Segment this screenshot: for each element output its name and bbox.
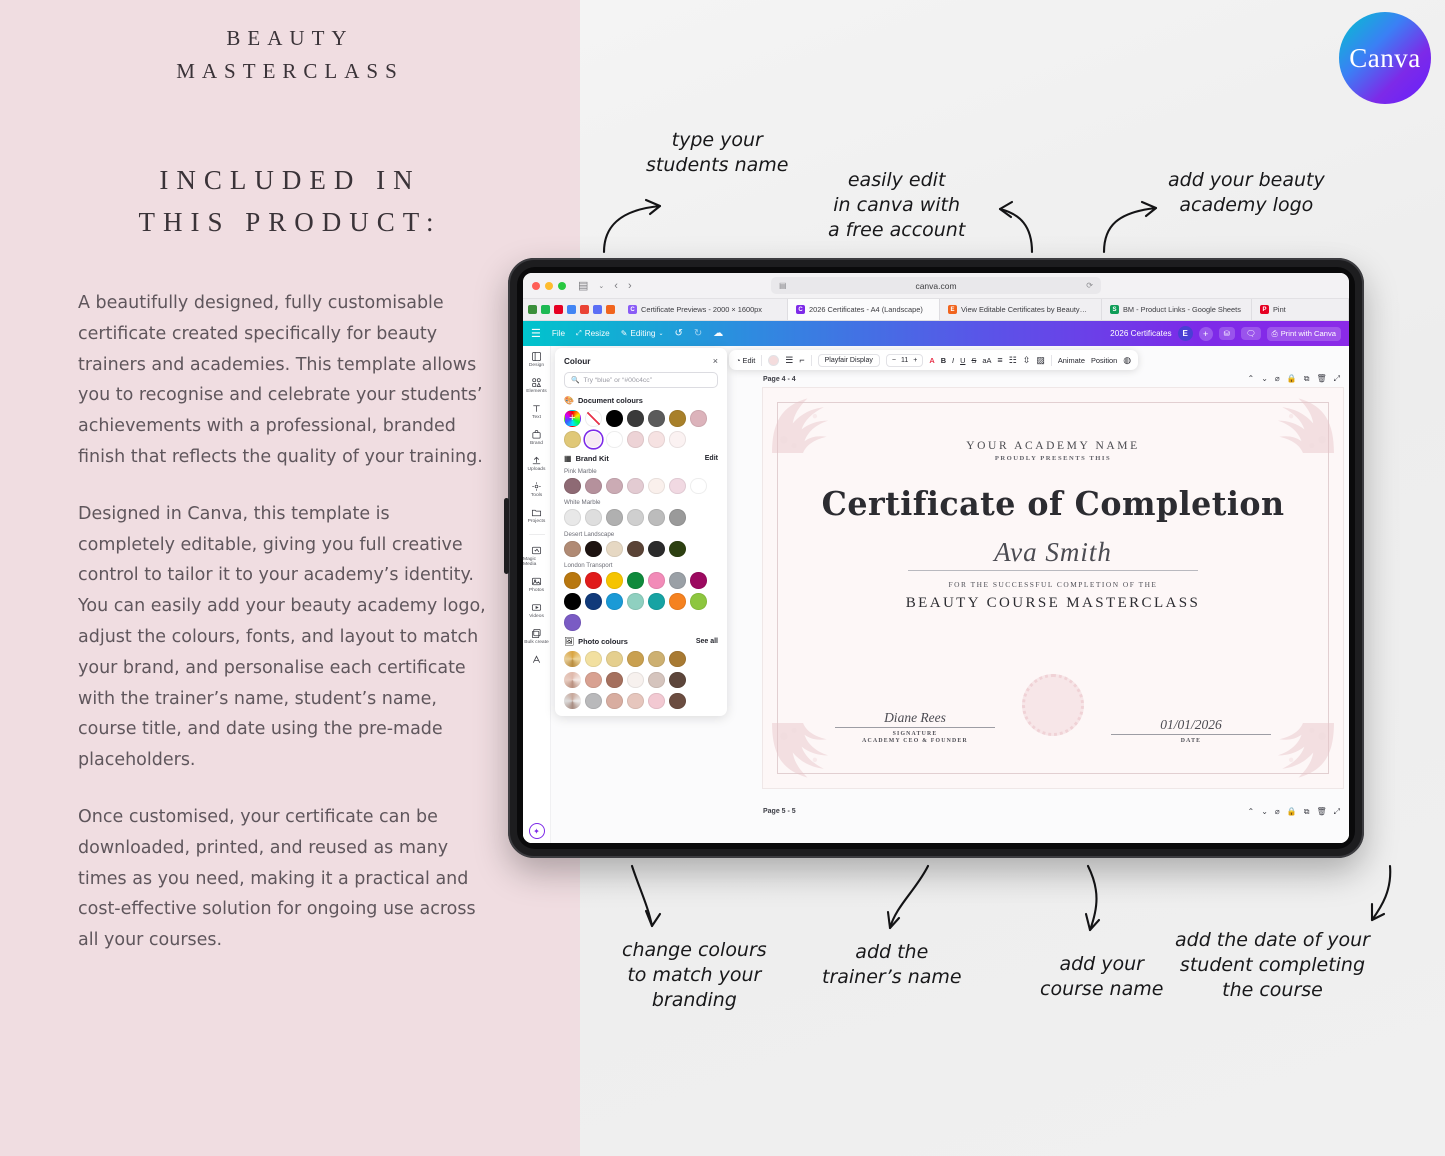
move-up-icon[interactable]: ⌃ — [1248, 807, 1255, 817]
tablet-screen: ▤ ⌄ ‹ › ▤ canva.com ⟳ — [523, 273, 1349, 843]
brand-kit-label: Brand Kit — [576, 454, 609, 463]
resize-label: Resize — [585, 329, 610, 338]
colour-swatch[interactable] — [627, 572, 644, 589]
paragraph-1: A beautifully designed, fully customisab… — [78, 288, 486, 473]
browser-tab[interactable]: E View Editable Certificates by BeautyMa… — [940, 299, 1102, 320]
left-info-panel: BEAUTY MASTERCLASS INCLUDED IN THIS PROD… — [0, 0, 580, 1156]
photo-colours-label: Photo colours — [578, 637, 628, 646]
colour-swatch[interactable] — [606, 572, 623, 589]
text-format-toolbar: ◔ Edit ☰ ⌐ Playfair Display − 11 + — [729, 350, 1138, 370]
sidebar-label: Uploads — [528, 467, 546, 472]
photo-thumbnail[interactable] — [564, 672, 581, 689]
signature-caption-2: ACADEMY CEO & FOUNDER — [835, 738, 995, 744]
colour-swatch[interactable] — [585, 541, 602, 558]
tab-favicon-icon: S — [1110, 305, 1119, 314]
colour-swatch[interactable] — [648, 478, 665, 495]
reload-icon[interactable]: ⟳ — [1086, 281, 1093, 290]
tab-title: Certificate Previews - 2000 × 1600px — [641, 305, 762, 314]
annotation-add-date: add the date of your student completing … — [1175, 928, 1370, 1003]
position-button[interactable]: Position — [1091, 356, 1117, 365]
photo-colours-row-1 — [564, 651, 718, 668]
colour-panel-title: Colour — [564, 357, 590, 366]
comment-icon: 🗨 — [1246, 329, 1256, 338]
heading-line1: INCLUDED IN — [0, 160, 580, 202]
colour-swatch[interactable] — [648, 431, 665, 448]
text-colour-swatch[interactable] — [768, 355, 779, 366]
date-rule — [1111, 734, 1271, 735]
delete-page-icon[interactable]: 🗑 — [1316, 374, 1326, 384]
bookmark-icon[interactable] — [593, 305, 602, 314]
description-copy: A beautifully designed, fully customisab… — [78, 288, 486, 982]
print-with-canva-button[interactable]: ⎙ Print with Canva — [1267, 327, 1341, 341]
section-heading: INCLUDED IN THIS PRODUCT: — [0, 160, 580, 244]
colour-swatch[interactable] — [669, 410, 686, 427]
browser-toolbar: ▤ ⌄ ‹ › ▤ canva.com ⟳ — [523, 273, 1349, 299]
font-size-increase[interactable]: + — [913, 357, 917, 364]
signature-caption-1: SIGNATURE — [835, 731, 995, 737]
photo-colours-see-all-button[interactable]: See all — [696, 638, 718, 645]
magic-ai-icon[interactable]: ✦ — [529, 823, 545, 839]
sidebar-item-bulk-create[interactable]: Bulk create — [523, 628, 550, 645]
insights-button[interactable]: ⛁ — [1219, 327, 1235, 340]
font-size-value: 11 — [901, 357, 908, 364]
move-down-icon[interactable]: ⌄ — [1261, 374, 1268, 384]
tab-title: 2026 Certificates - A4 (Landscape) — [809, 305, 923, 314]
file-menu-label: File — [552, 329, 565, 338]
pencil-icon: ✎ — [621, 329, 628, 338]
sidebar-item-apps[interactable] — [523, 654, 550, 665]
browser-tab-active[interactable]: C 2026 Certificates - A4 (Landscape) — [788, 299, 940, 320]
colour-swatch[interactable] — [669, 593, 686, 610]
colour-swatch[interactable] — [669, 651, 686, 668]
canva-logo-label: Canva — [1349, 43, 1420, 74]
tab-favicon-icon: C — [796, 305, 805, 314]
add-collaborator-button[interactable]: + — [1199, 327, 1213, 341]
date-value[interactable]: 01/01/2026 — [1111, 717, 1271, 733]
brand-kit-edit-button[interactable]: Edit — [705, 455, 718, 462]
colour-swatch[interactable] — [564, 593, 581, 610]
forward-icon[interactable]: › — [628, 280, 632, 292]
colour-swatch[interactable] — [564, 541, 581, 558]
cloud-saved-icon[interactable]: ☁ — [713, 328, 723, 339]
bookmark-icon[interactable] — [580, 305, 589, 314]
editing-label: Editing — [630, 329, 655, 338]
file-menu-button[interactable]: File — [552, 329, 565, 338]
insights-icon: ⛁ — [1224, 329, 1230, 338]
colour-swatch[interactable] — [564, 614, 581, 631]
colour-swatch[interactable] — [627, 541, 644, 558]
tab-favicon-icon: C — [628, 305, 637, 314]
colour-swatch[interactable] — [648, 593, 665, 610]
brand-kit-icon: ▦ — [564, 454, 572, 463]
colour-swatch[interactable] — [585, 509, 602, 526]
delete-page-icon[interactable]: 🗑 — [1316, 807, 1326, 817]
date-caption: DATE — [1111, 738, 1271, 744]
colour-swatch[interactable] — [606, 541, 623, 558]
sidebar-label: Elements — [526, 389, 546, 394]
sidebar-label: Text — [532, 415, 541, 420]
sidebar-label: Photos — [529, 588, 544, 593]
italic-button[interactable]: I — [952, 356, 954, 365]
palette-desert-landscape — [564, 541, 718, 558]
font-family-select[interactable]: Playfair Display — [818, 354, 880, 367]
certificate-student-name[interactable]: Ava Smith — [994, 537, 1112, 568]
align-icon[interactable]: ☰ — [785, 355, 793, 366]
colour-swatch[interactable] — [648, 572, 665, 589]
document-colours-row-2 — [564, 431, 718, 448]
document-colours-row-1 — [564, 410, 718, 427]
projects-icon — [531, 507, 542, 518]
document-colours-icon: 🎨 — [564, 396, 574, 405]
colour-search-input[interactable]: 🔍 Try “blue” or “#00c4cc” — [564, 372, 718, 388]
bold-button[interactable]: B — [941, 356, 946, 365]
student-name-rule — [908, 570, 1198, 571]
signature-rule — [835, 727, 995, 728]
duplicate-page-icon[interactable]: ⧉ — [1304, 807, 1310, 817]
browser-tab[interactable]: S BM - Product Links - Google Sheets — [1102, 299, 1252, 320]
colour-swatch[interactable] — [669, 572, 686, 589]
colour-swatch[interactable] — [606, 672, 623, 689]
colour-swatch[interactable] — [669, 431, 686, 448]
print-icon: ⎙ — [1272, 329, 1278, 339]
certificate-course-name[interactable]: BEAUTY COURSE MASTERCLASS — [906, 595, 1200, 612]
colour-panel-header: Colour × — [564, 356, 718, 366]
transparency-button[interactable]: ◍ — [1123, 355, 1131, 366]
page-label-bottom: Page 5 - 5 — [763, 808, 796, 815]
palette-pink-marble — [564, 478, 718, 495]
colour-swatch[interactable] — [627, 509, 644, 526]
colour-swatch[interactable] — [669, 509, 686, 526]
colour-swatch[interactable] — [585, 593, 602, 610]
colour-swatch[interactable] — [564, 572, 581, 589]
edit-button[interactable]: ◔ Edit — [736, 356, 755, 365]
sidebar-toggle-icon[interactable]: ▤ — [578, 279, 588, 292]
paragraph-2: Designed in Canva, this template is comp… — [78, 499, 486, 776]
videos-icon — [531, 602, 542, 613]
address-bar[interactable]: ▤ canva.com ⟳ — [771, 277, 1101, 294]
sidebar-label: Bulk create — [524, 640, 548, 645]
sidebar-item-uploads[interactable]: Uploads — [523, 455, 550, 472]
brand-icon — [531, 429, 542, 440]
lock-icon[interactable]: 🔒 — [1287, 807, 1297, 817]
bookmark-icon[interactable] — [541, 305, 550, 314]
bookmark-icon[interactable] — [528, 305, 537, 314]
print-label: Print with Canva — [1281, 329, 1336, 338]
colour-swatch[interactable] — [690, 593, 707, 610]
photo-colours-row-2 — [564, 672, 718, 689]
comment-button[interactable]: 🗨 — [1241, 327, 1261, 340]
poster-root: BEAUTY MASTERCLASS INCLUDED IN THIS PROD… — [0, 0, 1445, 1156]
annotation-add-course-name: add your course name — [1040, 952, 1163, 1002]
move-down-icon[interactable]: ⌄ — [1261, 807, 1268, 817]
palette-name-pink-marble: Pink Marble — [564, 468, 718, 475]
colour-swatch[interactable] — [648, 672, 665, 689]
colour-swatch[interactable] — [606, 651, 623, 668]
bookmark-icon[interactable] — [554, 305, 563, 314]
colour-swatch[interactable] — [648, 693, 665, 710]
uploads-icon — [531, 455, 542, 466]
sidebar-divider — [529, 534, 545, 535]
text-align-button[interactable]: ≡ — [997, 355, 1002, 365]
hide-page-icon[interactable]: ⌀ — [1275, 807, 1280, 817]
annotation-add-logo: add your beauty academy logo — [1168, 168, 1325, 218]
photo-colours-section: 🖼 Photo colours See all — [564, 637, 718, 646]
colour-swatch[interactable] — [627, 593, 644, 610]
tab-title: Pint — [1273, 305, 1286, 314]
browser-tab-bar: C Certificate Previews - 2000 × 1600px C… — [523, 299, 1349, 321]
colour-swatch[interactable] — [606, 410, 623, 427]
brand-title-line1: BEAUTY — [0, 22, 580, 55]
underline-button[interactable]: U — [960, 356, 965, 365]
text-icon — [531, 403, 542, 414]
strikethrough-button[interactable]: S — [971, 356, 976, 365]
tab-favicon-icon: P — [1260, 305, 1269, 314]
annotation-type-students-name: type your students name — [646, 128, 788, 178]
chevron-down-icon: ⌄ — [658, 330, 663, 337]
design-icon — [531, 351, 542, 362]
bulk-create-icon — [531, 628, 542, 639]
colour-swatch[interactable] — [627, 672, 644, 689]
certificate-canvas[interactable]: YOUR ACADEMY NAME PROUDLY PRESENTS THIS … — [763, 388, 1343, 788]
colour-swatch[interactable] — [669, 478, 686, 495]
document-colours-label: Document colours — [578, 396, 643, 405]
date-block[interactable]: 01/01/2026 DATE — [1111, 717, 1271, 744]
annotation-add-trainer-name: add the trainer’s name — [822, 940, 962, 990]
colour-swatch-selected[interactable] — [585, 431, 602, 448]
canva-header-right: 2026 Certificates E + ⛁ 🗨 ⎙ Print with C… — [1110, 326, 1341, 341]
browser-tab[interactable]: C Certificate Previews - 2000 × 1600px — [620, 299, 788, 320]
colour-picker-swatch[interactable] — [564, 410, 581, 427]
sidebar-label: Brand — [530, 441, 543, 446]
colour-swatch[interactable] — [690, 572, 707, 589]
close-icon[interactable]: × — [713, 356, 718, 366]
apps-icon — [531, 654, 542, 665]
palette-name-white-marble: White Marble — [564, 499, 718, 506]
sidebar-item-elements[interactable]: Elements — [523, 377, 550, 394]
colour-swatch[interactable] — [627, 478, 644, 495]
photo-thumbnail[interactable] — [564, 693, 581, 710]
sidebar-item-magic-media[interactable]: Magic Media — [523, 545, 550, 567]
colour-swatch[interactable] — [606, 693, 623, 710]
bookmark-icon[interactable] — [567, 305, 576, 314]
bookmark-icon[interactable] — [606, 305, 615, 314]
tab-favicon-icon: E — [948, 305, 957, 314]
colour-swatch[interactable] — [585, 651, 602, 668]
expand-page-icon[interactable]: ⤢ — [1334, 807, 1340, 817]
editing-mode-button[interactable]: ✎ Editing ⌄ — [621, 329, 664, 338]
sidebar-item-text[interactable]: Text — [523, 403, 550, 420]
colour-swatch[interactable] — [627, 431, 644, 448]
paragraph-3: Once customised, your certificate can be… — [78, 802, 486, 956]
resize-icon: ⤢ — [576, 330, 582, 338]
colour-swatch[interactable] — [627, 693, 644, 710]
move-up-icon[interactable]: ⌃ — [1248, 374, 1255, 384]
elements-icon — [531, 377, 542, 388]
page-tools-bottom[interactable]: ⌃ ⌄ ⌀ 🔒 ⧉ 🗑 ⤢ — [1248, 807, 1340, 817]
colour-swatch[interactable] — [564, 431, 581, 448]
hamburger-menu-icon[interactable]: ☰ — [531, 327, 541, 340]
chevron-down-icon[interactable]: ⌄ — [598, 282, 604, 290]
edit-label: Edit — [743, 356, 756, 365]
browser-nav-icons[interactable]: ▤ ⌄ ‹ › — [578, 279, 632, 292]
colour-swatch[interactable] — [690, 410, 707, 427]
palette-name-desert-landscape: Desert Landscape — [564, 531, 718, 538]
tab-title: View Editable Certificates by BeautyMast… — [961, 305, 1093, 314]
photo-colours-icon: 🖼 — [564, 637, 574, 646]
resize-button[interactable]: ⤢ Resize — [576, 329, 610, 338]
heading-line2: THIS PRODUCT: — [0, 202, 580, 244]
page-tools-top[interactable]: ⌃ ⌄ ⌀ 🔒 ⧉ 🗑 ⤢ — [1248, 374, 1340, 384]
canva-workspace: Design Elements Text — [523, 346, 1349, 843]
certificate-proudly-presents[interactable]: PROUDLY PRESENTS THIS — [995, 455, 1111, 462]
colour-swatch[interactable] — [627, 651, 644, 668]
redo-button[interactable]: ↻ — [694, 328, 702, 339]
colour-swatch[interactable] — [606, 593, 623, 610]
letter-case-button[interactable]: aA — [982, 356, 991, 365]
sidebar-label: Tools — [531, 493, 542, 498]
close-window-button[interactable] — [532, 282, 540, 290]
sidebar-item-videos[interactable]: Videos — [523, 602, 550, 619]
undo-button[interactable]: ↺ — [675, 328, 683, 339]
browser-tab[interactable]: P Pint — [1252, 299, 1349, 320]
hide-page-icon[interactable]: ⌀ — [1275, 374, 1280, 384]
sidebar-label: Magic Media — [523, 557, 550, 567]
certificate-academy-name[interactable]: YOUR ACADEMY NAME — [966, 440, 1139, 452]
font-size-stepper[interactable]: − 11 + — [886, 354, 923, 367]
colour-panel: Colour × 🔍 Try “blue” or “#00c4cc” 🎨 Doc… — [555, 348, 727, 716]
toolbar-divider — [811, 355, 812, 366]
colour-swatch[interactable] — [585, 672, 602, 689]
magic-media-icon — [531, 545, 542, 556]
annotation-change-colours: change colours to match your branding — [622, 938, 767, 1013]
colour-swatch[interactable] — [606, 509, 623, 526]
brand-title: BEAUTY MASTERCLASS — [0, 22, 580, 87]
colour-swatch[interactable] — [606, 478, 623, 495]
tools-icon — [531, 481, 542, 492]
colour-swatch[interactable] — [585, 693, 602, 710]
sidebar-label: Videos — [529, 614, 544, 619]
certificate-for-line[interactable]: FOR THE SUCCESSFUL COMPLETION OF THE — [949, 580, 1158, 589]
palette-name-london-transport: London Transport — [564, 562, 718, 569]
certificate-title[interactable]: Certificate of Completion — [822, 484, 1285, 523]
sidebar-item-tools[interactable]: Tools — [523, 481, 550, 498]
toolbar-divider — [1051, 355, 1052, 366]
colour-swatch[interactable] — [627, 410, 644, 427]
toolbar-divider — [761, 355, 762, 366]
effects-button[interactable]: ▨ — [1036, 355, 1045, 366]
lock-icon[interactable]: 🔒 — [1287, 374, 1297, 384]
list-button[interactable]: ☷ — [1009, 355, 1017, 366]
window-controls[interactable] — [532, 282, 566, 290]
sidebar-item-brand[interactable]: Brand — [523, 429, 550, 446]
sidebar-item-projects[interactable]: Projects — [523, 507, 550, 524]
volume-button[interactable] — [504, 498, 509, 574]
avatar[interactable]: E — [1178, 326, 1193, 341]
signature-block[interactable]: Diane Rees SIGNATURE ACADEMY CEO & FOUND… — [835, 710, 995, 744]
canva-sidebar: Design Elements Text — [523, 346, 551, 843]
line-spacing-icon[interactable]: ⌐ — [799, 355, 804, 365]
duplicate-page-icon[interactable]: ⧉ — [1304, 374, 1310, 384]
canva-logo: Canva — [1339, 12, 1431, 104]
colour-swatch[interactable] — [648, 410, 665, 427]
colour-search-placeholder: Try “blue” or “#00c4cc” — [583, 377, 652, 384]
colour-swatch[interactable] — [669, 541, 686, 558]
certificate-seal — [1022, 674, 1084, 736]
sidebar-item-design[interactable]: Design — [523, 351, 550, 368]
page-settings-icon[interactable]: ▤ — [779, 281, 787, 290]
search-icon: 🔍 — [571, 376, 579, 384]
canva-app-header: ☰ File ⤢ Resize ✎ Editing ⌄ ↺ ↻ ☁ 2026 C… — [523, 321, 1349, 346]
colour-swatch[interactable] — [690, 478, 707, 495]
back-icon[interactable]: ‹ — [614, 280, 618, 292]
edit-icon: ◔ — [736, 356, 740, 365]
no-colour-swatch[interactable] — [585, 410, 602, 427]
expand-page-icon[interactable]: ⤢ — [1334, 374, 1340, 384]
sidebar-item-photos[interactable]: Photos — [523, 576, 550, 593]
annotation-easily-edit: easily edit in canva with a free account — [828, 168, 965, 243]
text-spacing-button[interactable]: ⇳ — [1023, 355, 1031, 366]
sidebar-label: Design — [529, 363, 544, 368]
brand-title-line2: MASTERCLASS — [0, 55, 580, 88]
sidebar-label: Projects — [528, 519, 546, 524]
font-colour-button[interactable]: A — [929, 356, 934, 365]
colour-swatch[interactable] — [669, 693, 686, 710]
signature-value[interactable]: Diane Rees — [835, 710, 995, 726]
colour-swatch[interactable] — [648, 651, 665, 668]
document-colours-section: 🎨 Document colours — [564, 396, 718, 405]
colour-swatch[interactable] — [648, 541, 665, 558]
brand-kit-section: ▦ Brand Kit Edit — [564, 454, 718, 463]
bookmarks-bar[interactable] — [523, 299, 620, 320]
photo-thumbnail[interactable] — [564, 651, 581, 668]
photos-icon — [531, 576, 542, 587]
tab-title: BM - Product Links - Google Sheets — [1123, 305, 1241, 314]
colour-swatch[interactable] — [669, 672, 686, 689]
address-bar-url: canva.com — [915, 281, 956, 291]
maximize-window-button[interactable] — [558, 282, 566, 290]
tablet-device: ▤ ⌄ ‹ › ▤ canva.com ⟳ — [508, 258, 1364, 858]
palette-london-transport — [564, 572, 718, 631]
page-label-top: Page 4 - 4 — [763, 376, 796, 383]
animate-button[interactable]: Animate — [1058, 356, 1085, 365]
minimize-window-button[interactable] — [545, 282, 553, 290]
document-title[interactable]: 2026 Certificates — [1110, 329, 1171, 338]
colour-swatch[interactable] — [648, 509, 665, 526]
colour-swatch[interactable] — [564, 478, 581, 495]
font-size-decrease[interactable]: − — [892, 357, 896, 364]
photo-colours-row-3 — [564, 693, 718, 710]
colour-swatch[interactable] — [585, 478, 602, 495]
colour-swatch[interactable] — [606, 431, 623, 448]
colour-swatch[interactable] — [585, 572, 602, 589]
palette-white-marble — [564, 509, 718, 526]
colour-swatch[interactable] — [564, 509, 581, 526]
